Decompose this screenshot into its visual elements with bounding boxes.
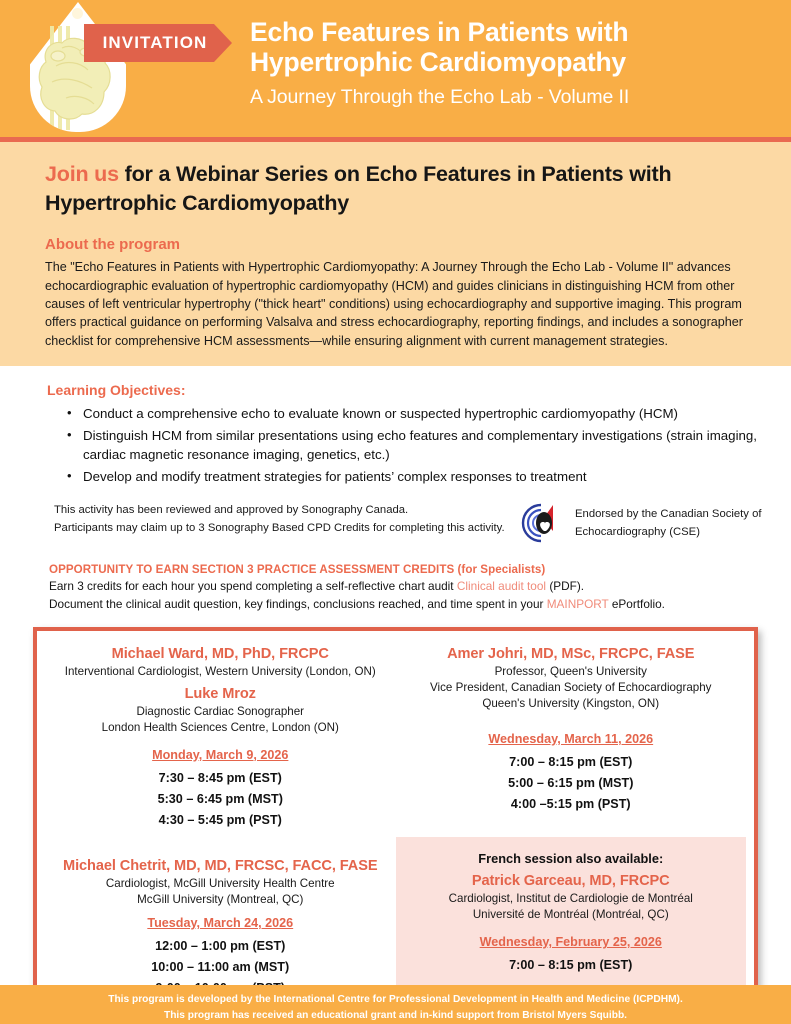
invitation-page: INVITATION Echo Features in Patients wit… (0, 0, 791, 1024)
speaker-role: Cardiologist, McGill University Health C… (45, 876, 396, 892)
speaker-name: Patrick Garceau, MD, FRCPC (406, 872, 737, 891)
page-title-line1: Echo Features in Patients with (250, 18, 777, 48)
speaker-role: McGill University (Montreal, QC) (45, 892, 396, 908)
list-item: Distinguish HCM from similar presentatio… (67, 427, 763, 464)
opportunity-heading: OPPORTUNITY TO EARN SECTION 3 PRACTICE A… (49, 563, 763, 576)
speaker-role: Professor, Queen's University (396, 664, 747, 680)
sessions-left-column: Michael Ward, MD, PhD, FRCPC Interventio… (45, 645, 396, 1000)
speaker-name: Michael Chetrit, MD, MD, FRCSC, FACC, FA… (45, 857, 396, 876)
session-time: 7:30 – 8:45 pm (EST) (45, 768, 396, 789)
intro-section: Join us for a Webinar Series on Echo Fea… (0, 142, 791, 366)
join-us-emphasis: Join us (45, 162, 119, 186)
opportunity-text-after: (PDF). (546, 579, 584, 593)
session-time: 4:00 –5:15 pm (PST) (396, 794, 747, 815)
sessions-right-column: Amer Johri, MD, MSc, FRCPC, FASE Profess… (396, 645, 747, 1000)
speaker-name: Luke Mroz (45, 685, 396, 704)
speaker-role: Diagnostic Cardiac Sonographer (45, 704, 396, 720)
session-card-chetrit: Michael Chetrit, MD, MD, FRCSC, FACC, FA… (45, 857, 396, 999)
header-titles: Echo Features in Patients with Hypertrop… (250, 18, 777, 109)
page-header: INVITATION Echo Features in Patients wit… (0, 0, 791, 137)
opportunity-line-1: Earn 3 credits for each hour you spend c… (49, 578, 763, 596)
session-time: 5:30 – 6:45 pm (MST) (45, 789, 396, 810)
footer-line-2: This program has received an educational… (0, 1008, 791, 1024)
french-session-heading: French session also available: (406, 851, 737, 866)
learning-objectives-heading: Learning Objectives: (47, 382, 763, 398)
accreditation-text: This activity has been reviewed and appr… (54, 502, 509, 537)
details-section: Learning Objectives: Conduct a comprehen… (0, 366, 791, 618)
speaker-role: Cardiologist, Institut de Cardiologie de… (406, 891, 737, 907)
mainport-text-before: Document the clinical audit question, ke… (49, 597, 547, 611)
session-time: 12:00 – 1:00 pm (EST) (45, 936, 396, 957)
invitation-badge: INVITATION (84, 24, 232, 62)
list-item: Develop and modify treatment strategies … (67, 468, 763, 486)
learning-objectives-list: Conduct a comprehensive echo to evaluate… (67, 405, 763, 486)
session-times: 7:00 – 8:15 pm (EST) (406, 955, 737, 976)
speaker-role: Université de Montréal (Montréal, QC) (406, 907, 737, 923)
endorsement-line-2: Echocardiography (CSE) (575, 524, 762, 542)
about-program-heading: About the program (45, 236, 763, 253)
speaker-role: Queen's University (Kingston, ON) (396, 696, 747, 712)
heart-droplet-logo (22, 0, 132, 137)
session-date: Monday, March 9, 2026 (152, 748, 288, 762)
session-date: Tuesday, March 24, 2026 (147, 916, 293, 930)
speaker-name: Amer Johri, MD, MSc, FRCPC, FASE (396, 645, 747, 664)
session-time: 10:00 – 11:00 am (MST) (45, 957, 396, 978)
sessions-box: Michael Ward, MD, PhD, FRCPC Interventio… (33, 627, 758, 1020)
logo-dot-icon (72, 8, 83, 19)
page-subtitle: A Journey Through the Echo Lab - Volume … (250, 86, 777, 109)
session-times: 7:00 – 8:15 pm (EST) 5:00 – 6:15 pm (MST… (396, 752, 747, 815)
footer-line-1: This program is developed by the Interna… (0, 992, 791, 1008)
cse-logo (519, 501, 565, 545)
session-date: Wednesday, March 11, 2026 (488, 732, 653, 746)
endorsement-text: Endorsed by the Canadian Society of Echo… (575, 502, 762, 541)
session-time: 7:00 – 8:15 pm (EST) (406, 955, 737, 976)
session-time: 7:00 – 8:15 pm (EST) (396, 752, 747, 773)
droplet-clip (30, 2, 126, 132)
list-item: Conduct a comprehensive echo to evaluate… (67, 405, 763, 423)
mainport-link[interactable]: MAINPORT (547, 597, 609, 611)
speaker-role: London Health Sciences Centre, London (O… (45, 720, 396, 736)
page-title-line2: Hypertrophic Cardiomyopathy (250, 48, 777, 78)
session-time: 5:00 – 6:15 pm (MST) (396, 773, 747, 794)
mainport-text-after: ePortfolio. (609, 597, 665, 611)
accreditation-line-2: Participants may claim up to 3 Sonograph… (54, 520, 509, 538)
session-date: Wednesday, February 25, 2026 (480, 935, 662, 949)
join-us-rest: for a Webinar Series on Echo Features in… (45, 162, 671, 215)
speaker-role: Vice President, Canadian Society of Echo… (396, 680, 747, 696)
accreditation-row: This activity has been reviewed and appr… (54, 502, 763, 545)
opportunity-text-before: Earn 3 credits for each hour you spend c… (49, 579, 457, 593)
about-program-body: The "Echo Features in Patients with Hype… (45, 258, 745, 350)
join-us-headline: Join us for a Webinar Series on Echo Fea… (45, 160, 763, 217)
accreditation-line-1: This activity has been reviewed and appr… (54, 502, 509, 520)
session-times: 7:30 – 8:45 pm (EST) 5:30 – 6:45 pm (MST… (45, 768, 396, 831)
speaker-name: Michael Ward, MD, PhD, FRCPC (45, 645, 396, 664)
french-session-card: French session also available: Patrick G… (396, 837, 747, 992)
page-footer: This program is developed by the Interna… (0, 985, 791, 1024)
session-time: 4:30 – 5:45 pm (PST) (45, 810, 396, 831)
opportunity-line-2: Document the clinical audit question, ke… (49, 596, 763, 614)
endorsement-line-1: Endorsed by the Canadian Society of (575, 506, 762, 524)
session-card-ward: Michael Ward, MD, PhD, FRCPC Interventio… (45, 645, 396, 831)
session-card-johri: Amer Johri, MD, MSc, FRCPC, FASE Profess… (396, 645, 747, 815)
speaker-role: Interventional Cardiologist, Western Uni… (45, 664, 396, 680)
clinical-audit-tool-link[interactable]: Clinical audit tool (457, 579, 546, 593)
invitation-badge-label: INVITATION (103, 33, 208, 53)
